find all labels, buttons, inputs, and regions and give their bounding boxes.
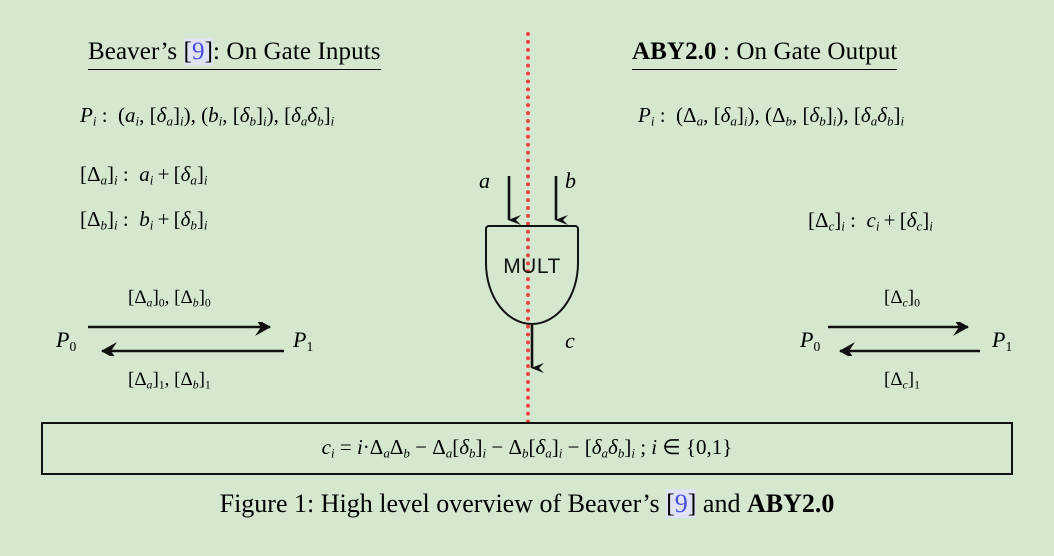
right-exchange-message-bottom: [Δc]1 bbox=[884, 369, 920, 392]
left-delta-b-line: [Δb]i : bi + [δb]i bbox=[80, 207, 208, 234]
figure-container: Beaver’s [9]: On Gate Inputs ABY2.0 : On… bbox=[0, 0, 1054, 556]
right-exchange-arrows bbox=[828, 319, 988, 367]
right-party-share-line: Pi : (Δa, [δa]i), (Δb, [δb]i), [δaδb]i bbox=[638, 103, 904, 130]
mult-gate-label: MULT bbox=[485, 255, 579, 279]
left-party-share-line: Pi : (ai, [δa]i), (bi, [δb]i), [δaδb]i bbox=[80, 103, 334, 130]
right-exchange-diagram: P0 P1 [Δc]0 [Δc]1 bbox=[800, 285, 1050, 400]
right-panel-heading: ABY2.0 : On Gate Output bbox=[632, 38, 897, 70]
left-heading-citation-open: [ bbox=[184, 38, 192, 65]
right-exchange-party-p0: P0 bbox=[800, 327, 820, 355]
caption-prefix: Figure 1: High level overview of Beaver’… bbox=[220, 489, 666, 518]
output-equation: ci = i·ΔaΔb − Δa[δb]i − Δb[δa]i − [δaδb]… bbox=[322, 435, 733, 462]
left-exchange-arrows bbox=[88, 319, 288, 367]
equation-box: ci = i·ΔaΔb − Δa[δb]i − Δb[δa]i − [δaδb]… bbox=[41, 422, 1013, 475]
right-exchange-message-top: [Δc]0 bbox=[884, 287, 920, 310]
left-heading-citation-close: ] bbox=[205, 38, 213, 65]
left-heading-name: Beaver’s bbox=[88, 38, 184, 65]
figure-caption: Figure 1: High level overview of Beaver’… bbox=[0, 489, 1054, 519]
caption-citation-open: [ bbox=[666, 489, 675, 518]
gate-input-a-label: a bbox=[479, 168, 490, 194]
left-exchange-message-top: [Δa]0, [Δb]0 bbox=[128, 287, 211, 310]
left-exchange-message-bottom: [Δa]1, [Δb]1 bbox=[128, 369, 211, 392]
citation-link-9[interactable]: 9 bbox=[192, 38, 205, 65]
left-exchange-diagram: P0 P1 [Δa]0, [Δb]0 [Δa]1, [Δb]1 bbox=[50, 285, 380, 400]
left-panel-heading: Beaver’s [9]: On Gate Inputs bbox=[88, 38, 381, 70]
right-heading-suffix: : On Gate Output bbox=[717, 38, 898, 65]
right-delta-c-line: [Δc]i : ci + [δc]i bbox=[808, 208, 933, 235]
caption-middle: and bbox=[696, 489, 747, 518]
caption-bold-name: ABY2.0 bbox=[747, 489, 834, 518]
left-delta-a-line: [Δa]i : ai + [δa]i bbox=[80, 162, 208, 189]
caption-citation-link-9[interactable]: 9 bbox=[675, 489, 688, 518]
right-heading-bold-name: ABY2.0 bbox=[632, 38, 717, 65]
gate-output-c-label: c bbox=[565, 328, 575, 354]
left-exchange-party-p1: P1 bbox=[293, 327, 313, 355]
left-heading-suffix: : On Gate Inputs bbox=[213, 38, 381, 65]
mult-gate-group: MULT a b c bbox=[455, 160, 605, 395]
right-exchange-party-p1: P1 bbox=[992, 327, 1012, 355]
left-exchange-party-p0: P0 bbox=[56, 327, 76, 355]
gate-input-b-label: b bbox=[565, 168, 576, 194]
